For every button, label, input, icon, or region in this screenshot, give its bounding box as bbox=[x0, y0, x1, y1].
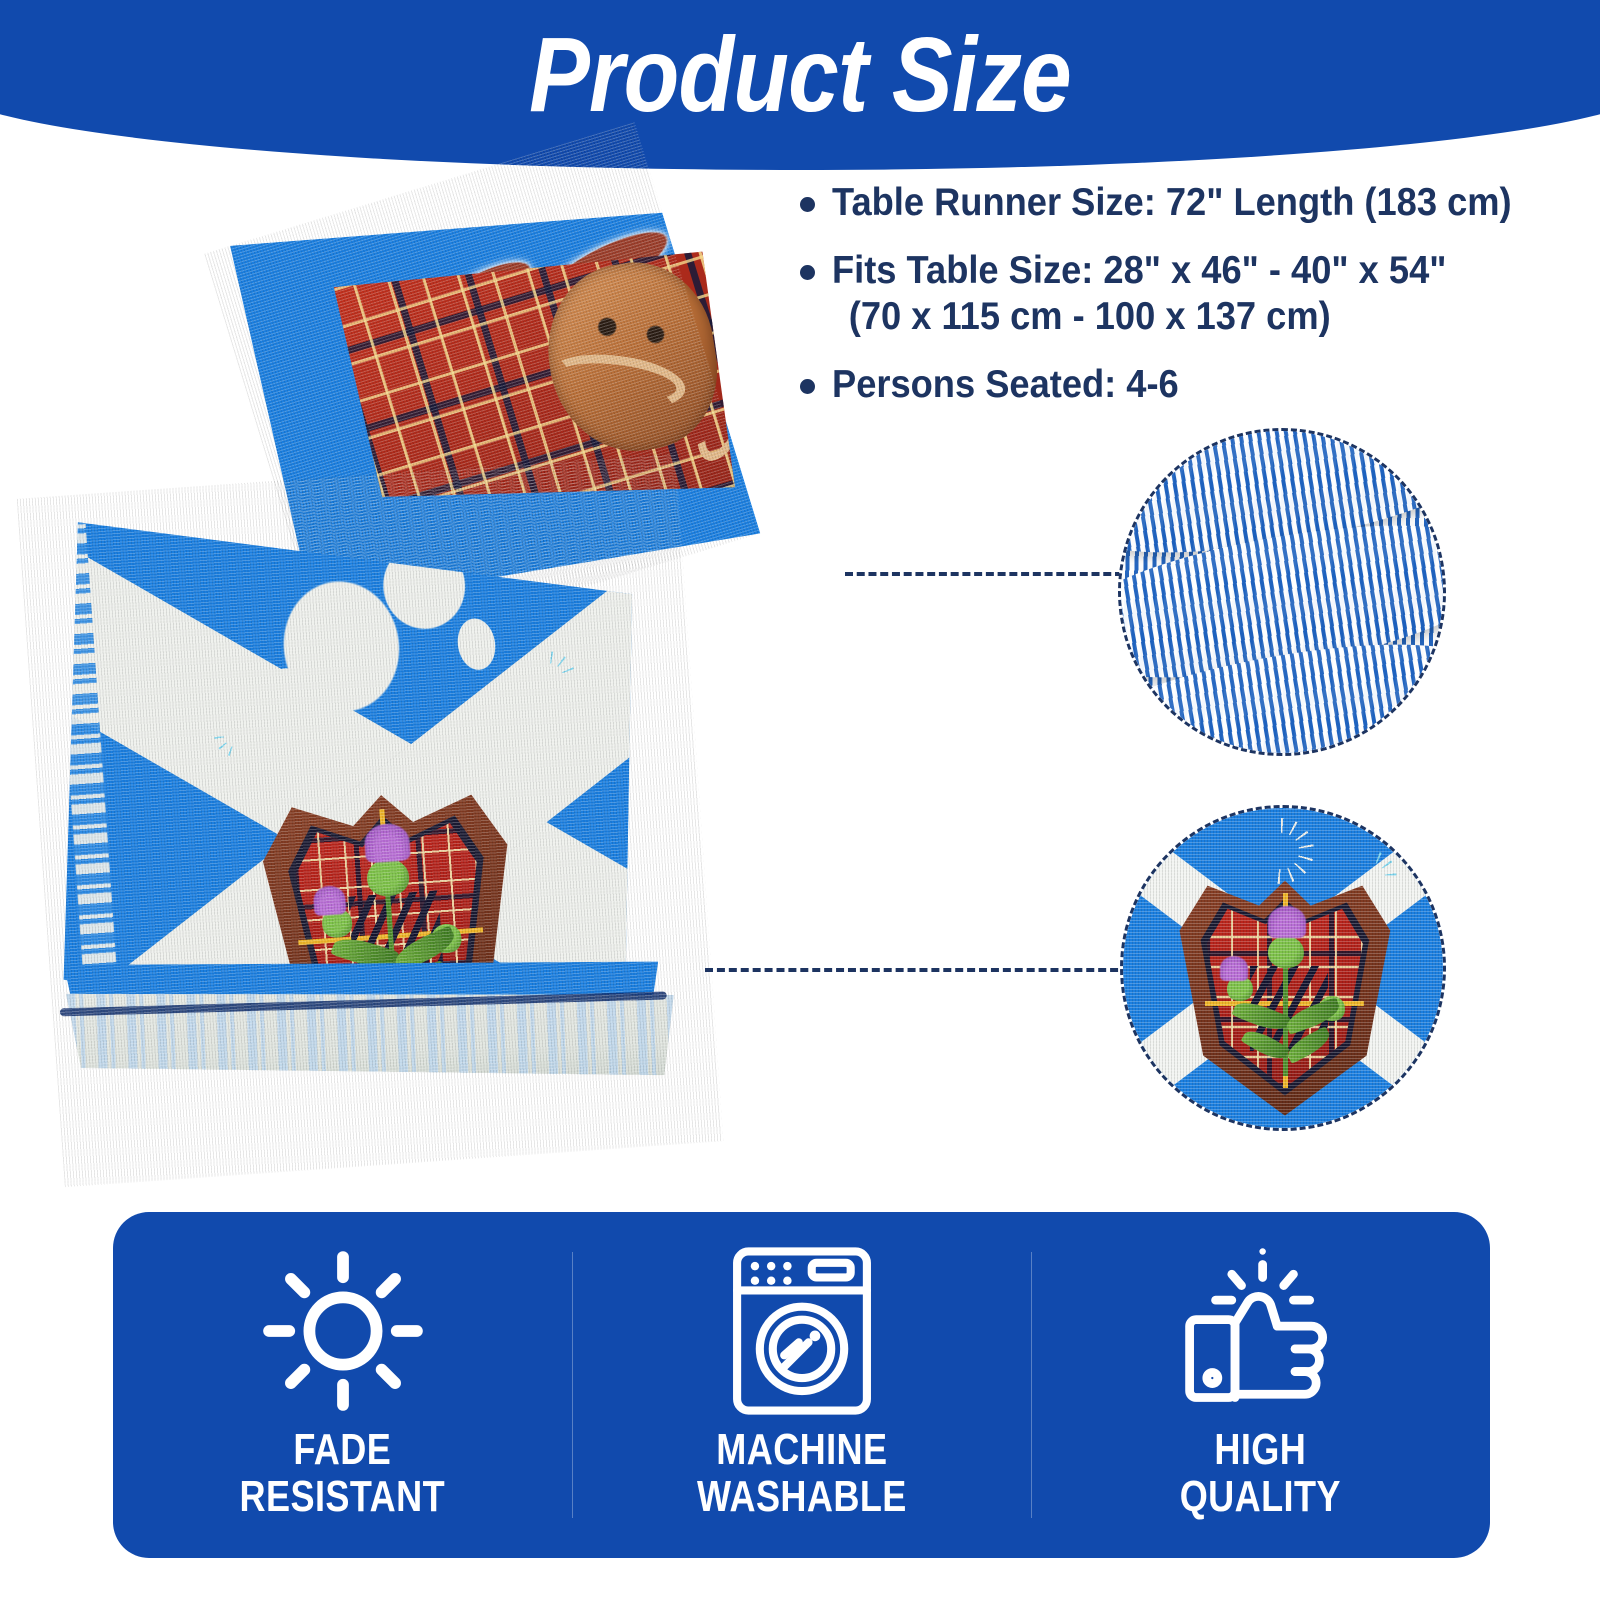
callout-crest-detail bbox=[1120, 805, 1446, 1131]
saltire-face bbox=[17, 453, 724, 1187]
celtic-knot-border bbox=[80, 1072, 688, 1144]
runner-main-body bbox=[17, 453, 724, 1187]
infographic-canvas: Product Size Table Runner Size: 72" Leng… bbox=[0, 0, 1600, 1600]
feature-label: HIGH QUALITY bbox=[1180, 1426, 1341, 1520]
spec-text: Fits Table Size: 28" x 46" - 40" x 54" (… bbox=[832, 248, 1446, 340]
thistle-bud bbox=[1268, 936, 1305, 969]
sparkle-icon bbox=[361, 491, 425, 555]
feature-label: FADE RESISTANT bbox=[240, 1426, 445, 1520]
spec-text: Persons Seated: 4-6 bbox=[832, 362, 1179, 408]
list-item: Table Runner Size: 72" Length (183 cm) bbox=[800, 180, 1590, 226]
callout-fabric-weave bbox=[1118, 428, 1446, 756]
list-item: Persons Seated: 4-6 bbox=[800, 362, 1590, 408]
leader-line-fabric bbox=[845, 572, 1123, 576]
header-banner: Product Size bbox=[0, 0, 1600, 170]
feature-label-line-2: QUALITY bbox=[1180, 1473, 1341, 1520]
spec-line-1: Fits Table Size: 28" x 46" - 40" x 54" bbox=[832, 249, 1446, 292]
feature-label-line-2: RESISTANT bbox=[240, 1473, 445, 1520]
spec-text: Table Runner Size: 72" Length (183 cm) bbox=[832, 180, 1512, 226]
feature-fade-resistant: FADE RESISTANT bbox=[113, 1212, 572, 1558]
feature-bar: FADE RESISTANT bbox=[113, 1212, 1490, 1558]
spec-line-1: Persons Seated: 4-6 bbox=[832, 363, 1179, 406]
feature-label-line-1: FADE bbox=[240, 1426, 445, 1473]
washing-machine-icon bbox=[727, 1242, 877, 1420]
page-title: Product Size bbox=[60, 22, 1539, 128]
feature-high-quality: HIGH QUALITY bbox=[1031, 1212, 1490, 1558]
thumbs-up-icon bbox=[1176, 1242, 1346, 1420]
leader-line-crest bbox=[705, 968, 1130, 972]
product-photo bbox=[30, 235, 870, 1165]
list-item: Fits Table Size: 28" x 46" - 40" x 54" (… bbox=[800, 248, 1590, 340]
thistle-flower bbox=[1268, 906, 1307, 939]
feature-label-line-2: WASHABLE bbox=[697, 1473, 907, 1520]
sun-icon bbox=[259, 1242, 427, 1420]
feature-label-line-1: HIGH bbox=[1180, 1426, 1341, 1473]
bullet-dot-icon bbox=[800, 197, 815, 212]
feature-label: MACHINE WASHABLE bbox=[697, 1426, 907, 1520]
spec-line-2: (70 x 115 cm - 100 x 137 cm) bbox=[832, 294, 1446, 340]
thistle-flower bbox=[1220, 956, 1248, 981]
feature-machine-washable: MACHINE WASHABLE bbox=[572, 1212, 1031, 1558]
thistle-crest-shield bbox=[1177, 866, 1392, 1116]
specs-list: Table Runner Size: 72" Length (183 cm) F… bbox=[800, 180, 1590, 408]
callout-image bbox=[1123, 808, 1443, 1128]
spec-line-1: Table Runner Size: 72" Length (183 cm) bbox=[832, 181, 1512, 224]
feature-label-line-1: MACHINE bbox=[697, 1426, 907, 1473]
callout-image bbox=[1121, 431, 1443, 753]
